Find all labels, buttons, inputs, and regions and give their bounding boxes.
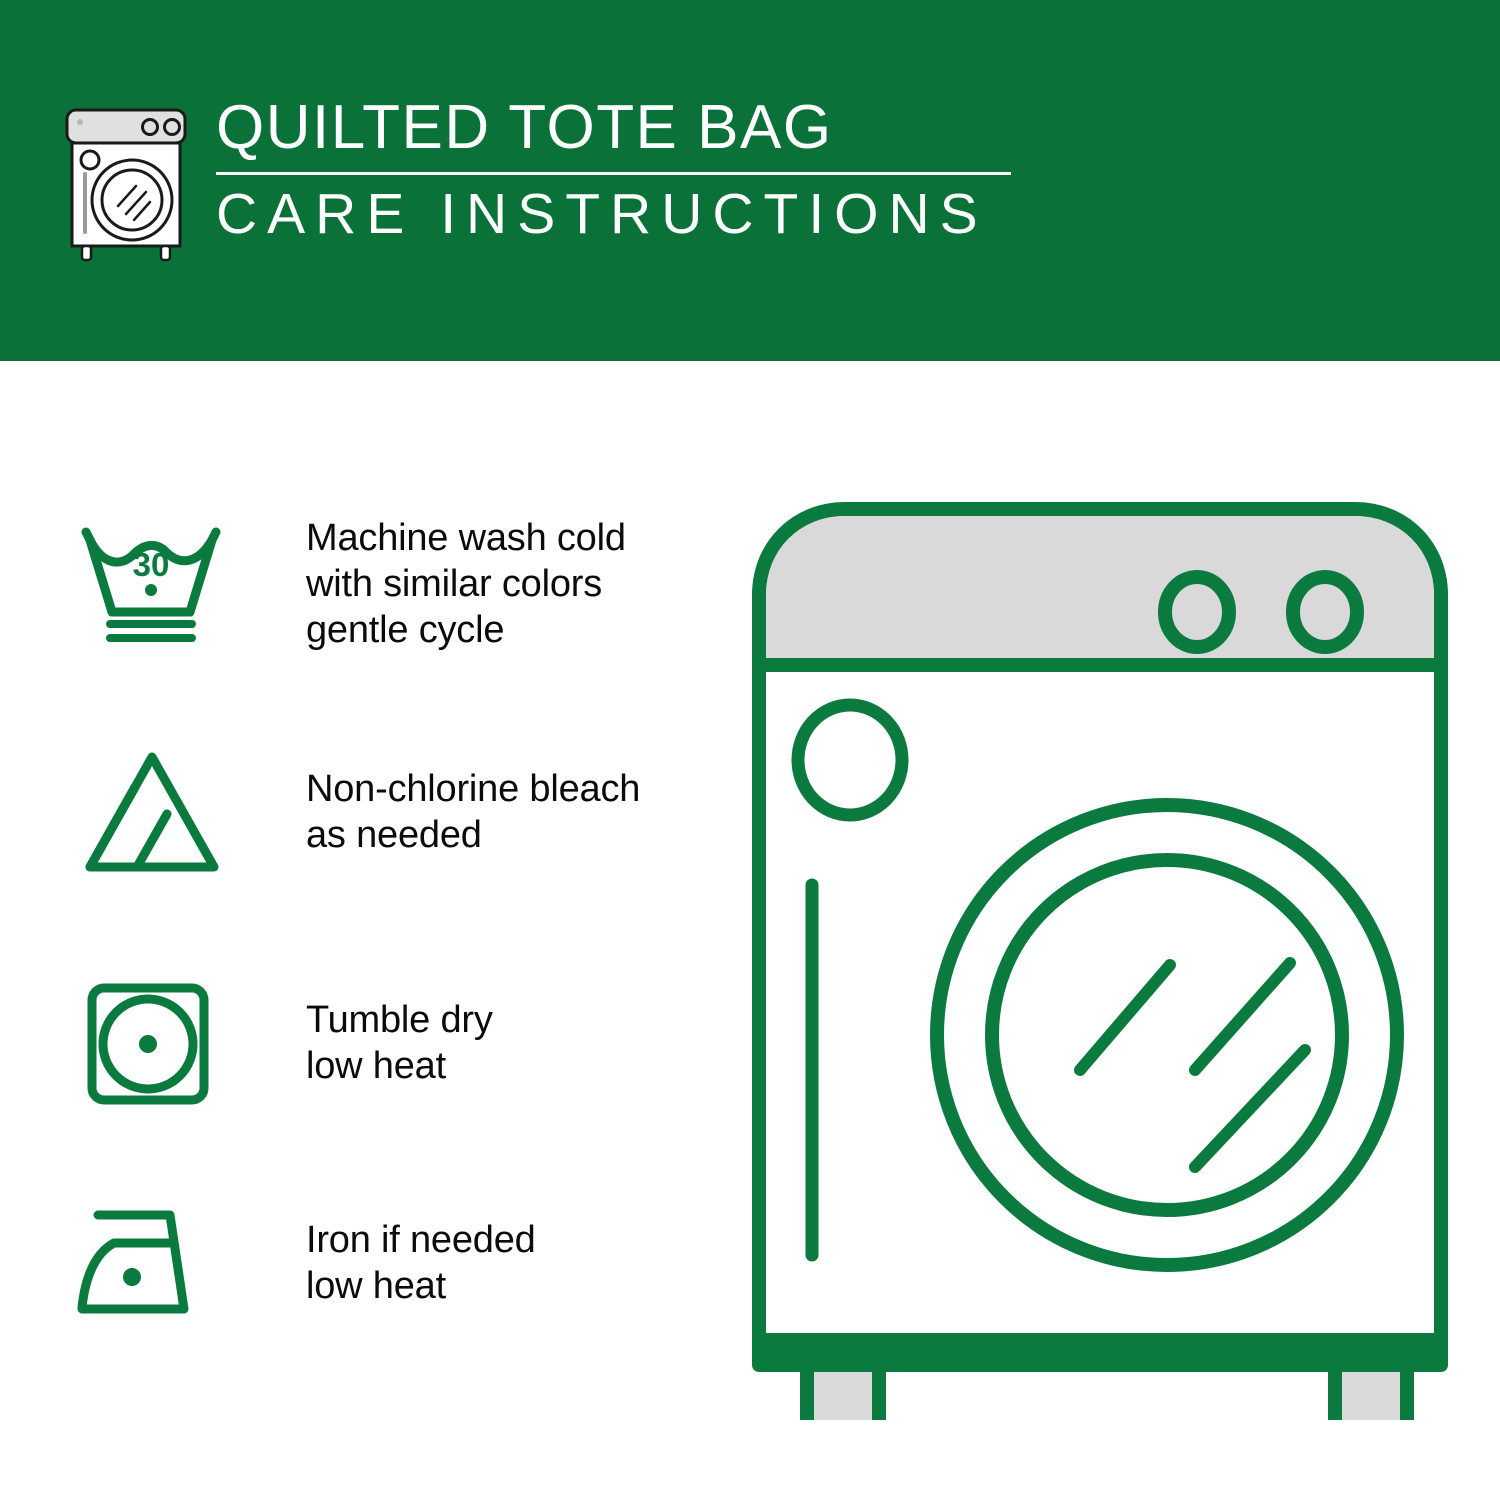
care-line: with similar colors [306, 562, 626, 608]
front-load-washing-machine-illustration [745, 495, 1455, 1420]
care-line: Machine wash cold [306, 516, 626, 562]
care-line: low heat [306, 1264, 536, 1310]
care-line: Tumble dry [306, 998, 493, 1044]
care-line: Non-chlorine bleach [306, 767, 640, 813]
care-line: Iron if needed [306, 1218, 536, 1264]
header-banner: QUILTED TOTE BAG CARE INSTRUCTIONS [0, 0, 1500, 361]
page-subtitle: CARE INSTRUCTIONS [216, 185, 1026, 245]
care-row-machine-wash: 30 Machine wash cold with similar colors… [72, 516, 712, 654]
care-text-tumble-dry: Tumble dry low heat [242, 998, 493, 1090]
title-divider [216, 172, 1011, 175]
leg-left [807, 1365, 879, 1420]
non-chlorine-bleach-icon [72, 743, 242, 883]
care-row-iron: Iron if needed low heat [72, 1199, 712, 1329]
header-text-block: QUILTED TOTE BAG CARE INSTRUCTIONS [216, 96, 1026, 245]
care-label-page: QUILTED TOTE BAG CARE INSTRUCTIONS 30 [0, 0, 1500, 1500]
care-line: as needed [306, 813, 640, 859]
care-row-bleach: Non-chlorine bleach as needed [72, 743, 712, 883]
washing-machine-icon [62, 108, 197, 263]
care-instruction-list: 30 Machine wash cold with similar colors… [0, 361, 740, 1500]
care-line: low heat [306, 1044, 493, 1090]
page-title: QUILTED TOTE BAG [216, 96, 1026, 160]
care-text-machine-wash: Machine wash cold with similar colors ge… [242, 516, 626, 654]
care-text-bleach: Non-chlorine bleach as needed [242, 767, 640, 859]
iron-low-heat-icon [72, 1199, 242, 1329]
machine-wash-30-gentle-icon: 30 [72, 520, 242, 650]
care-text-iron: Iron if needed low heat [242, 1218, 536, 1310]
leg-right [1335, 1365, 1407, 1420]
care-line: gentle cycle [306, 608, 626, 654]
wash-temperature-label: 30 [133, 546, 170, 583]
tumble-dry-low-icon [72, 974, 242, 1114]
care-row-tumble-dry: Tumble dry low heat [72, 974, 712, 1114]
